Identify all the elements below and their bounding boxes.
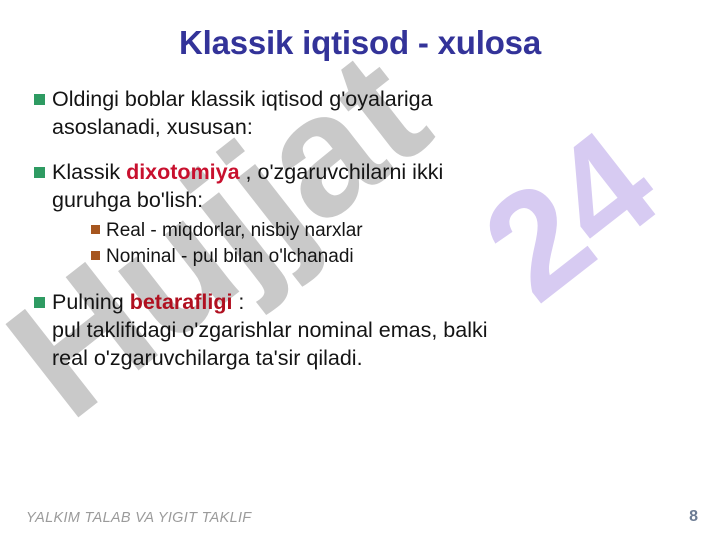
green-square-bullet-icon	[34, 94, 45, 105]
bullet-2-line-2: guruhga bo'lish:	[52, 188, 203, 212]
bullet-2-tail: , o'zgaruvchilarni ikki	[240, 160, 444, 184]
bullet-3-continuation-line-1: pul taklifidagi o'zgarishlar nominal ema…	[52, 316, 488, 344]
bullet-2-highlight-term: dixotomiya	[126, 160, 240, 184]
bullet-1-line-2: asoslanadi, xususan:	[52, 115, 253, 139]
bullet-3-lead: Pulning	[52, 290, 130, 314]
sub-bullet-item-2-text: Nominal - pul bilan o'lchanadi	[106, 244, 354, 269]
slide-title: Klassik iqtisod - xulosa	[0, 24, 720, 62]
sub-bullet-list: Real - miqdorlar, nisbiy narxlar Nominal…	[52, 218, 443, 269]
sub-bullet-item-1-text: Real - miqdorlar, nisbiy narxlar	[106, 218, 363, 243]
bullet-item-1-text: Oldingi boblar klassik iqtisod g'oyalari…	[52, 85, 433, 141]
bullet-item-1: Oldingi boblar klassik iqtisod g'oyalari…	[34, 85, 680, 141]
bullet-1-line-1: Oldingi boblar klassik iqtisod g'oyalari…	[52, 87, 433, 111]
brown-square-bullet-icon	[91, 225, 100, 234]
green-square-bullet-icon	[34, 167, 45, 178]
sub-bullet-item-2: Nominal - pul bilan o'lchanadi	[91, 244, 443, 269]
bullet-item-2: Klassik dixotomiya , o'zgaruvchilarni ik…	[34, 158, 680, 271]
sub-bullet-item-1: Real - miqdorlar, nisbiy narxlar	[91, 218, 443, 243]
bullet-3-highlight-term: betarafligi	[130, 290, 233, 314]
brown-square-bullet-icon	[91, 251, 100, 260]
slide-canvas: Hujjat 24 Klassik iqtisod - xulosa Oldin…	[0, 0, 720, 540]
bullet-list: Oldingi boblar klassik iqtisod g'oyalari…	[34, 85, 680, 372]
bullet-item-2-text: Klassik dixotomiya , o'zgaruvchilarni ik…	[52, 158, 443, 271]
bullet-2-lead: Klassik	[52, 160, 126, 184]
green-square-bullet-icon	[34, 297, 45, 308]
page-number: 8	[689, 508, 698, 526]
bullet-item-3: Pulning betarafligi : pul taklifidagi o'…	[34, 288, 680, 372]
bullet-3-tail: :	[232, 290, 244, 314]
slide-content: Klassik iqtisod - xulosa Oldingi boblar …	[0, 0, 720, 540]
bullet-3-continuation-line-2: real o'zgaruvchilarga ta'sir qiladi.	[52, 344, 488, 372]
footer-label: YALKIM TALAB VA YIGIT TAKLIF	[26, 510, 251, 526]
bullet-item-3-text: Pulning betarafligi : pul taklifidagi o'…	[52, 288, 488, 372]
